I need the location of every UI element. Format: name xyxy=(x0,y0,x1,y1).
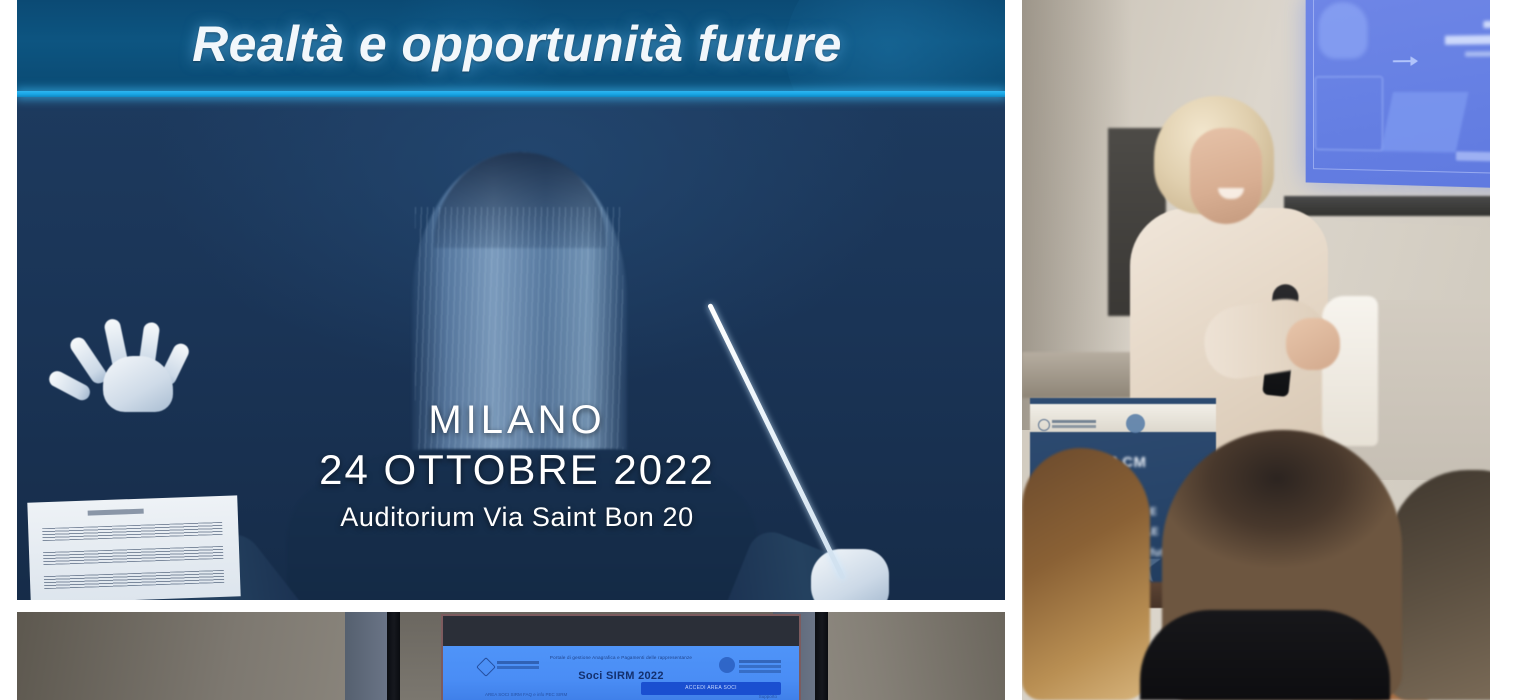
speaker-face xyxy=(1190,128,1262,224)
music-staff xyxy=(43,546,223,565)
conductor-right-glove xyxy=(811,549,889,600)
banner-logo-center-icon xyxy=(1126,414,1145,433)
slide-subtitle: Portale di gestione Anagrafica e Pagamen… xyxy=(443,655,799,662)
projection-screen-frame: Portale di gestione Anagrafica e Pagamen… xyxy=(441,614,801,700)
banner-top-strip xyxy=(1030,404,1216,432)
projection-hand-graphic xyxy=(1319,2,1368,59)
banner-logo-left-icon xyxy=(1038,419,1050,431)
poster-venue: Auditorium Via Saint Bon 20 xyxy=(17,497,1005,538)
hall-pillar-left xyxy=(387,612,400,700)
slide-access-button-label: ACCEDI AREA SOCI xyxy=(641,685,781,691)
slide-title: Soci SIRM 2022 xyxy=(443,670,799,682)
speaker-white-sleeve xyxy=(1322,296,1378,446)
hall-panel-left xyxy=(345,612,387,700)
audience-head-left xyxy=(1022,448,1150,700)
poster-event-details: MILANO 24 OTTOBRE 2022 Auditorium Via Sa… xyxy=(17,397,1005,537)
event-poster-card: Realtà e opportunità future xyxy=(17,0,1005,600)
accent-divider-line xyxy=(17,91,1005,97)
lecture-hall-photo: Portale di gestione Anagrafica e Pagamen… xyxy=(17,612,1005,700)
speaker-hand xyxy=(1286,318,1340,370)
slide-small-text-right: Supporto xyxy=(759,694,777,699)
projection-shape-graphic xyxy=(1381,92,1469,153)
conductor-left-glove xyxy=(79,312,187,408)
audience-center-shoulders xyxy=(1140,610,1390,700)
conductor-photo: MILANO 24 OTTOBRE 2022 Auditorium Via Sa… xyxy=(17,97,1005,600)
projected-slide: Portale di gestione Anagrafica e Pagamen… xyxy=(443,646,799,700)
right-white-edge xyxy=(1490,0,1505,700)
banner-logo-left-text xyxy=(1052,420,1096,423)
hall-pillar-right xyxy=(815,612,828,700)
speaker-photo: SIRM CM LA SALUTE E IL FEMMINILE opportu… xyxy=(1022,0,1505,700)
photo-collage: Realtà e opportunità future xyxy=(0,0,1520,700)
hall-wall-left xyxy=(17,612,373,700)
music-staff xyxy=(44,570,224,589)
poster-title: Realtà e opportunità future xyxy=(17,0,1005,92)
slide-small-text-left: AREA SOCI SIRM FAQ e info PEC SIRM xyxy=(485,691,567,698)
audience-head-right xyxy=(1388,470,1505,700)
left-column: Realtà e opportunità future xyxy=(0,0,1010,700)
poster-date: 24 OTTOBRE 2022 xyxy=(17,444,1005,497)
poster-city: MILANO xyxy=(17,397,1005,444)
